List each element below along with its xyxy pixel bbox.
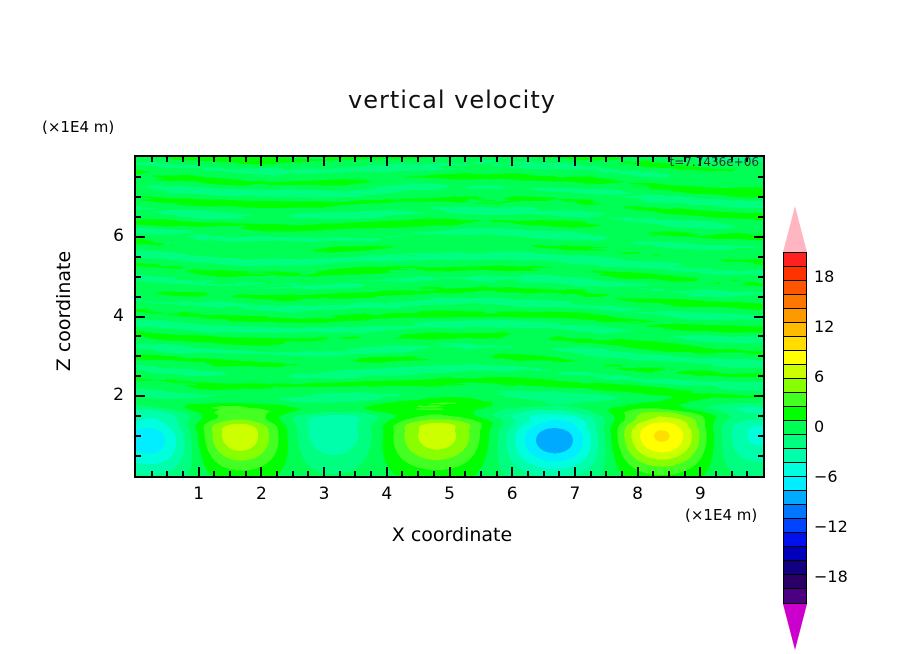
z-tick-left bbox=[136, 316, 145, 318]
x-tick-bottom bbox=[605, 471, 607, 476]
x-tick-top bbox=[323, 157, 325, 166]
colorbar-swatch bbox=[784, 351, 806, 365]
x-tick-bottom bbox=[684, 471, 686, 476]
x-tick-top bbox=[590, 157, 592, 162]
z-tick-right bbox=[758, 276, 763, 278]
x-tick-bottom bbox=[386, 467, 388, 476]
z-tick-label: 6 bbox=[94, 226, 124, 246]
x-tick-bottom bbox=[464, 471, 466, 476]
colorbar-under-cap bbox=[783, 604, 807, 650]
colorbar-swatch bbox=[784, 421, 806, 435]
x-tick-top bbox=[637, 157, 639, 166]
x-tick-top bbox=[511, 157, 513, 166]
x-tick-bottom bbox=[480, 471, 482, 476]
z-tick-right bbox=[758, 375, 763, 377]
z-tick-left bbox=[136, 276, 141, 278]
z-tick-left bbox=[136, 415, 141, 417]
colorbar-swatch bbox=[784, 561, 806, 575]
x-tick-label: 2 bbox=[246, 484, 276, 504]
x-axis-unit-label: (×1E4 m) bbox=[685, 506, 757, 524]
x-tick-bottom bbox=[433, 471, 435, 476]
z-tick-right bbox=[754, 316, 763, 318]
colorbar-swatch bbox=[784, 491, 806, 505]
x-tick-top bbox=[354, 157, 356, 162]
x-tick-bottom bbox=[621, 471, 623, 476]
x-tick-bottom bbox=[715, 471, 717, 476]
z-tick-right bbox=[758, 176, 763, 178]
z-tick-left bbox=[136, 176, 141, 178]
x-tick-top bbox=[292, 157, 294, 162]
x-tick-bottom bbox=[307, 471, 309, 476]
colorbar-swatch bbox=[784, 393, 806, 407]
x-tick-bottom bbox=[151, 471, 153, 476]
colorbar-swatch bbox=[784, 547, 806, 561]
colorbar-swatch bbox=[784, 309, 806, 323]
x-tick-top bbox=[198, 157, 200, 166]
colorbar-tick-label: 0 bbox=[814, 417, 824, 436]
x-tick-top bbox=[543, 157, 545, 162]
x-tick-bottom bbox=[229, 471, 231, 476]
x-tick-bottom bbox=[198, 467, 200, 476]
z-tick-label: 2 bbox=[94, 385, 124, 405]
colorbar-swatch bbox=[784, 379, 806, 393]
x-tick-label: 6 bbox=[497, 484, 527, 504]
colorbar bbox=[783, 206, 807, 650]
z-tick-left bbox=[136, 435, 141, 437]
x-tick-top bbox=[480, 157, 482, 162]
x-tick-bottom bbox=[166, 471, 168, 476]
x-tick-label: 3 bbox=[309, 484, 339, 504]
colorbar-swatch bbox=[784, 365, 806, 379]
z-tick-left bbox=[136, 355, 141, 357]
x-tick-bottom bbox=[527, 471, 529, 476]
x-tick-label: 4 bbox=[372, 484, 402, 504]
x-tick-bottom bbox=[276, 471, 278, 476]
z-tick-right bbox=[758, 256, 763, 258]
colorbar-swatches bbox=[783, 252, 807, 604]
x-tick-top bbox=[339, 157, 341, 162]
x-tick-top bbox=[464, 157, 466, 162]
x-tick-bottom bbox=[699, 467, 701, 476]
colorbar-swatch bbox=[784, 295, 806, 309]
x-tick-bottom bbox=[260, 467, 262, 476]
x-tick-bottom bbox=[449, 467, 451, 476]
colorbar-over-cap bbox=[783, 206, 807, 252]
x-tick-top bbox=[417, 157, 419, 162]
z-tick-right bbox=[758, 296, 763, 298]
x-tick-bottom bbox=[637, 467, 639, 476]
z-tick-label: 4 bbox=[94, 306, 124, 326]
colorbar-tick-label: −18 bbox=[814, 567, 848, 586]
x-tick-top bbox=[574, 157, 576, 166]
x-tick-top bbox=[166, 157, 168, 162]
colorbar-swatch bbox=[784, 337, 806, 351]
x-tick-label: 8 bbox=[623, 484, 653, 504]
x-tick-bottom bbox=[245, 471, 247, 476]
x-tick-label: 7 bbox=[560, 484, 590, 504]
x-tick-bottom bbox=[746, 471, 748, 476]
contour-plot-frame: t=7.7436e+06 bbox=[134, 155, 765, 478]
z-tick-right bbox=[758, 216, 763, 218]
z-tick-right bbox=[754, 236, 763, 238]
x-tick-bottom bbox=[558, 471, 560, 476]
z-tick-left bbox=[136, 256, 141, 258]
colorbar-swatch bbox=[784, 253, 806, 267]
colorbar-swatch bbox=[784, 449, 806, 463]
colorbar-swatch bbox=[784, 589, 806, 603]
y-axis-label: Z coordinate bbox=[53, 211, 75, 411]
x-tick-top bbox=[260, 157, 262, 166]
colorbar-swatch bbox=[784, 463, 806, 477]
x-tick-top bbox=[229, 157, 231, 162]
colorbar-swatch bbox=[784, 407, 806, 421]
z-tick-right bbox=[758, 355, 763, 357]
x-tick-top bbox=[621, 157, 623, 162]
z-tick-right bbox=[758, 415, 763, 417]
x-tick-top bbox=[558, 157, 560, 162]
z-tick-left bbox=[136, 216, 141, 218]
x-tick-bottom bbox=[339, 471, 341, 476]
x-tick-top bbox=[401, 157, 403, 162]
x-tick-bottom bbox=[496, 471, 498, 476]
z-tick-left bbox=[136, 296, 141, 298]
z-tick-left bbox=[136, 236, 145, 238]
x-tick-bottom bbox=[652, 471, 654, 476]
colorbar-swatch bbox=[784, 477, 806, 491]
x-tick-label: 1 bbox=[184, 484, 214, 504]
colorbar-tick-label: 6 bbox=[814, 367, 824, 386]
colorbar-swatch bbox=[784, 505, 806, 519]
x-tick-top bbox=[527, 157, 529, 162]
x-tick-top bbox=[386, 157, 388, 166]
x-tick-bottom bbox=[731, 471, 733, 476]
colorbar-swatch bbox=[784, 267, 806, 281]
x-tick-bottom bbox=[213, 471, 215, 476]
colorbar-tick-label: 12 bbox=[814, 317, 834, 336]
x-tick-bottom bbox=[590, 471, 592, 476]
z-tick-right bbox=[758, 435, 763, 437]
velocity-field-heatmap bbox=[136, 157, 763, 476]
z-axis-unit-label: (×1E4 m) bbox=[42, 118, 114, 136]
x-tick-top bbox=[276, 157, 278, 162]
x-tick-top bbox=[496, 157, 498, 162]
x-tick-bottom bbox=[292, 471, 294, 476]
colorbar-swatch bbox=[784, 575, 806, 589]
z-tick-left bbox=[136, 335, 141, 337]
colorbar-swatch bbox=[784, 281, 806, 295]
x-tick-top bbox=[605, 157, 607, 162]
colorbar-tick-label: 18 bbox=[814, 267, 834, 286]
x-tick-top bbox=[433, 157, 435, 162]
x-tick-label: 9 bbox=[685, 484, 715, 504]
x-tick-top bbox=[182, 157, 184, 162]
x-tick-bottom bbox=[417, 471, 419, 476]
x-tick-bottom bbox=[401, 471, 403, 476]
x-tick-bottom bbox=[354, 471, 356, 476]
colorbar-tick-label: −6 bbox=[814, 467, 838, 486]
colorbar-swatch bbox=[784, 323, 806, 337]
z-tick-right bbox=[758, 196, 763, 198]
colorbar-swatch bbox=[784, 533, 806, 547]
velocity-field-canvas bbox=[136, 157, 763, 476]
colorbar-swatch bbox=[784, 519, 806, 533]
x-tick-bottom bbox=[668, 471, 670, 476]
x-tick-bottom bbox=[370, 471, 372, 476]
x-tick-bottom bbox=[574, 467, 576, 476]
x-tick-bottom bbox=[543, 471, 545, 476]
x-tick-top bbox=[151, 157, 153, 162]
x-tick-top bbox=[449, 157, 451, 166]
x-axis-label: X coordinate bbox=[232, 524, 672, 546]
z-tick-left bbox=[136, 375, 141, 377]
x-tick-top bbox=[245, 157, 247, 162]
z-tick-left bbox=[136, 196, 141, 198]
timestamp-label: t=7.7436e+06 bbox=[670, 155, 759, 169]
x-tick-top bbox=[370, 157, 372, 162]
page-title: vertical velocity bbox=[0, 86, 904, 114]
x-tick-top bbox=[307, 157, 309, 162]
x-tick-bottom bbox=[182, 471, 184, 476]
x-tick-bottom bbox=[511, 467, 513, 476]
z-tick-left bbox=[136, 455, 141, 457]
colorbar-tick-label: −12 bbox=[814, 517, 848, 536]
x-tick-top bbox=[652, 157, 654, 162]
z-tick-right bbox=[758, 455, 763, 457]
colorbar-swatch bbox=[784, 435, 806, 449]
z-tick-right bbox=[758, 335, 763, 337]
x-tick-bottom bbox=[323, 467, 325, 476]
x-tick-label: 5 bbox=[435, 484, 465, 504]
z-tick-left bbox=[136, 395, 145, 397]
z-tick-right bbox=[754, 395, 763, 397]
x-tick-top bbox=[213, 157, 215, 162]
